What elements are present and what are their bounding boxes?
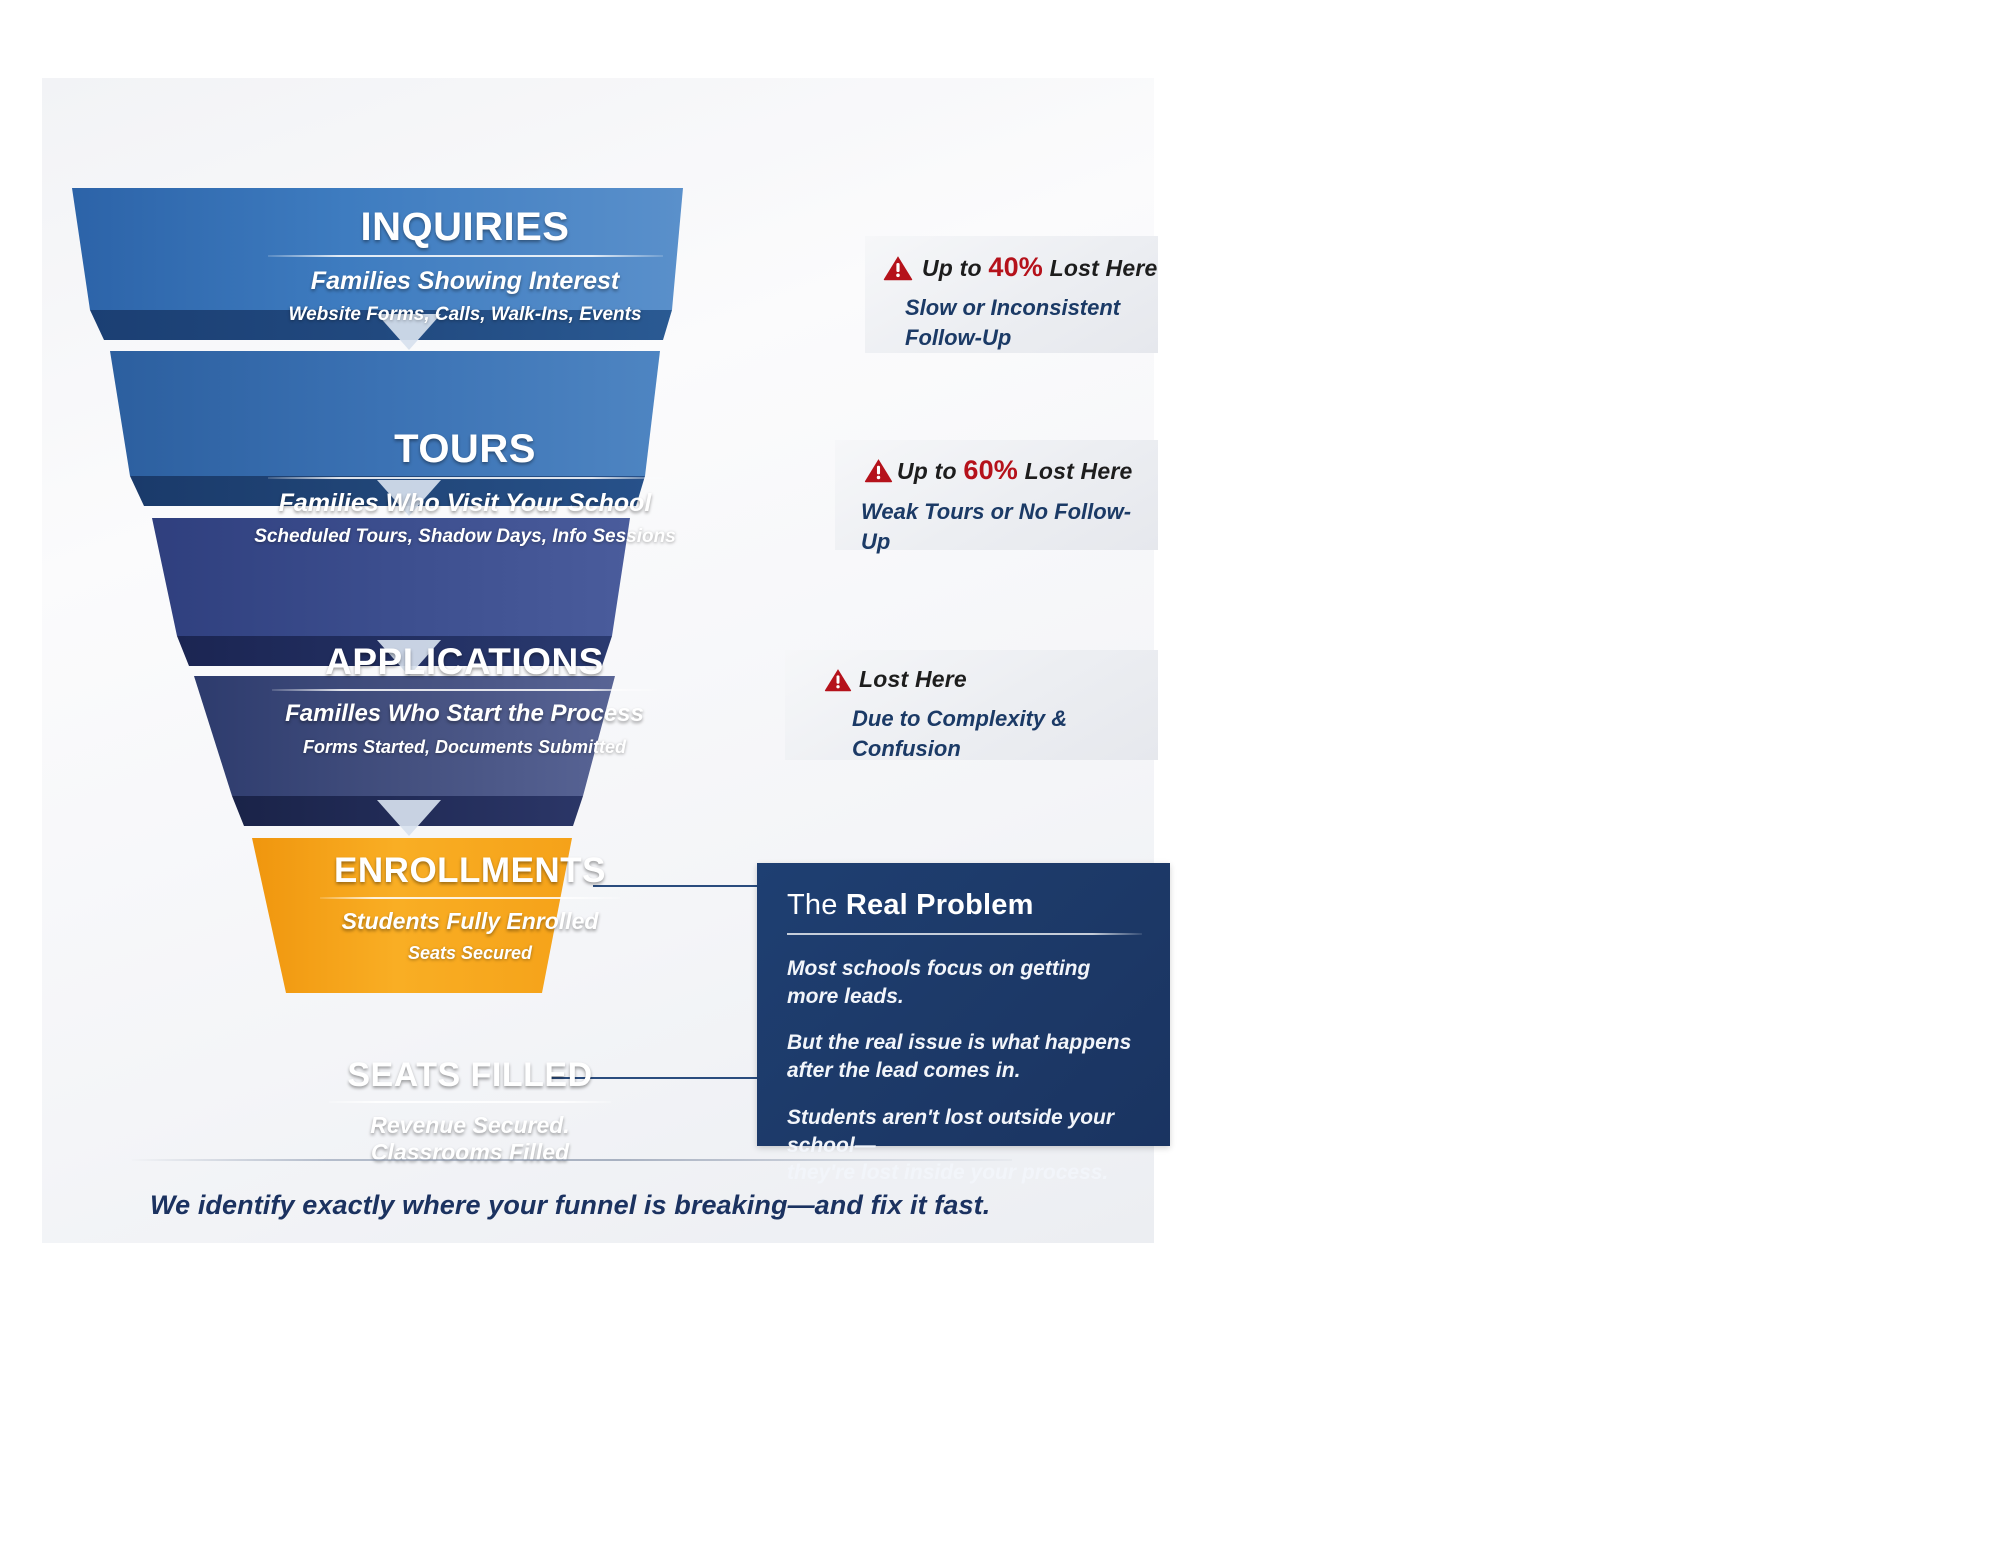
callout-suffix-applications: Lost Here bbox=[859, 666, 967, 692]
callout-text-inquiries: Up to 40% Lost Here bbox=[922, 252, 1157, 283]
callout-head-tours: Up to 60% Lost Here bbox=[835, 440, 1158, 486]
callout-prefix-tours: Up to bbox=[897, 458, 963, 484]
callout-reason-inquiries: Slow or Inconsistent Follow-Up bbox=[905, 293, 1158, 352]
funnel-stage-enrollments bbox=[194, 676, 615, 796]
callout-percent-inquiries: 40% bbox=[988, 252, 1043, 282]
callout-reason-tours: Weak Tours or No Follow-Up bbox=[861, 497, 1158, 556]
funnel-stage-inquiries bbox=[72, 188, 683, 310]
real-problem-paragraph-3: Students aren't lost outside your school… bbox=[787, 1104, 1142, 1187]
real-problem-p2-line2: after the lead comes in. bbox=[787, 1057, 1142, 1085]
warning-triangle-icon bbox=[864, 458, 893, 483]
callout-suffix-tours: Lost Here bbox=[1018, 458, 1132, 484]
loss-callout-tours: Up to 60% Lost Here Weak Tours or No Fol… bbox=[835, 440, 1158, 550]
real-problem-p3-line2: they're lost inside your process. bbox=[787, 1159, 1142, 1187]
callout-percent-tours: 60% bbox=[963, 455, 1018, 485]
footer-tagline: We identify exactly where your funnel is… bbox=[150, 1190, 1050, 1221]
real-problem-paragraph-2: But the real issue is what happens after… bbox=[787, 1029, 1142, 1084]
warning-triangle-icon bbox=[883, 255, 913, 281]
real-problem-title-light: The bbox=[787, 889, 846, 921]
infographic-canvas: INQUIRIES Families Showing Interest Webs… bbox=[42, 78, 1154, 1243]
real-problem-paragraph-1: Most schools focus on getting more leads… bbox=[787, 955, 1142, 1010]
callout-reason-applications: Due to Complexity & Confusion bbox=[852, 704, 1158, 763]
callout-text-tours: Up to 60% Lost Here bbox=[897, 455, 1132, 486]
real-problem-title-bold: Real Problem bbox=[846, 889, 1034, 921]
callout-reason-line2-inquiries: Follow-Up bbox=[905, 323, 1158, 353]
callout-text-applications: Lost Here bbox=[859, 666, 967, 693]
real-problem-p2-line1: But the real issue is what happens bbox=[787, 1031, 1131, 1054]
loss-callout-inquiries: Up to 40% Lost Here Slow or Inconsistent… bbox=[865, 236, 1158, 353]
funnel-stage-applications bbox=[152, 518, 630, 636]
callout-prefix-inquiries: Up to bbox=[922, 255, 988, 281]
real-problem-panel: The Real Problem Most schools focus on g… bbox=[757, 863, 1170, 1146]
callout-suffix-inquiries: Lost Here bbox=[1043, 255, 1157, 281]
funnel-stage-tours bbox=[110, 351, 660, 476]
callout-head-inquiries: Up to 40% Lost Here bbox=[865, 236, 1158, 283]
real-problem-title: The Real Problem bbox=[787, 889, 1142, 922]
real-problem-rule bbox=[787, 933, 1142, 935]
loss-callout-applications: Lost Here Due to Complexity & Confusion bbox=[785, 650, 1158, 760]
funnel-stage-seats-filled bbox=[252, 838, 572, 993]
callout-reason-line1-inquiries: Slow or Inconsistent bbox=[905, 295, 1120, 320]
real-problem-p3-line1: Students aren't lost outside your school… bbox=[787, 1106, 1114, 1157]
footer-divider bbox=[132, 1159, 1012, 1161]
callout-head-applications: Lost Here bbox=[785, 650, 1158, 693]
warning-triangle-icon bbox=[824, 668, 852, 692]
